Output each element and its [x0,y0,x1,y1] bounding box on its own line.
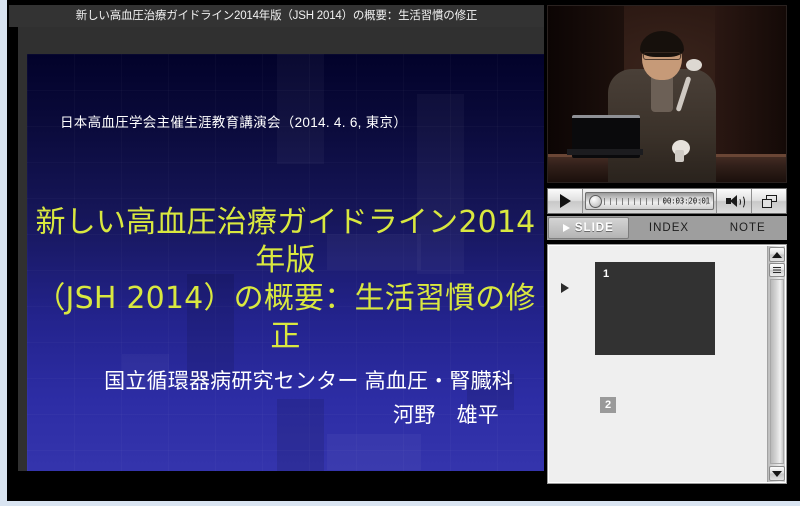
volume-button[interactable] [716,189,751,213]
sidebar-bottom-bar [544,484,792,500]
thumbnail-scrollbar[interactable] [767,246,785,482]
speaker-icon [726,195,742,207]
speaker-glasses [643,52,681,60]
scroll-grip-icon [773,267,781,274]
tab-slide-label: SLIDE [575,222,614,234]
slide-canvas[interactable]: 日本高血圧学会主催生涯教育講演会（2014. 4. 6, 東京） 新しい高血圧治… [27,54,544,478]
player-window: 新しい高血圧治療ガイドライン2014年版（JSH 2014）の概要：生活習慣の修… [0,0,800,506]
laptop-base [567,149,643,155]
chevron-down-icon [772,471,782,477]
tab-slide[interactable]: SLIDE [548,217,629,239]
slide-author: 河野 雄平 [27,400,499,432]
slide-affiliation: 国立循環器病研究センター 高血圧・腎臓科 [27,366,513,398]
scrollbar-thumb[interactable] [769,263,785,277]
slide-title-line-2: （JSH 2014）の概要：生活習慣の修正 [27,280,544,356]
slide-thumbnail-panel: 1 2 [547,244,787,484]
chevron-up-icon [772,252,782,258]
seek-slider[interactable]: 00:03:20:01 [585,192,714,210]
play-icon [560,194,571,208]
slide-viewer: 新しい高血圧治療ガイドライン2014年版（JSH 2014）の概要：生活習慣の修… [9,0,544,500]
desk-microphone-body [675,150,684,162]
slide-bg-block [327,434,421,470]
thumbnail-list[interactable]: 1 2 [548,245,766,483]
viewer-bottom-bar [9,471,544,500]
microphone-head [686,59,702,71]
playback-controls: 00:03:20:01 [547,188,787,214]
current-slide-marker-icon [561,283,569,293]
video-preview[interactable] [547,5,787,183]
scroll-up-button[interactable] [769,247,785,262]
scrollbar-track[interactable] [770,279,784,464]
window-resize-icon [762,195,777,208]
fullscreen-button[interactable] [751,189,786,213]
play-triangle-icon [563,224,570,232]
player-sidebar: 00:03:20:01 SLIDE INDEX [544,0,792,500]
slide-subtitle: 日本高血圧学会主催生涯教育講演会（2014. 4. 6, 東京） [60,111,500,131]
slide-title-line-1: 新しい高血圧治療ガイドライン2014年版 [36,205,536,278]
tab-note-label: NOTE [730,222,766,234]
tab-index[interactable]: INDEX [630,216,709,240]
slide-stage: 日本高血圧学会主催生涯教育講演会（2014. 4. 6, 東京） 新しい高血圧治… [18,27,544,471]
thumbnail-number: 2 [600,397,616,413]
seek-handle[interactable] [589,195,602,208]
thumbnail-number: 1 [603,268,609,280]
slide-bg-block [277,54,324,164]
presentation-title-bar: 新しい高血圧治療ガイドライン2014年版（JSH 2014）の概要：生活習慣の修… [9,5,544,27]
scroll-down-button[interactable] [769,466,785,481]
play-button[interactable] [548,189,583,213]
tab-index-label: INDEX [649,222,689,234]
timecode-label: 00:03:20:01 [662,197,711,206]
sidebar-tabs: SLIDE INDEX NOTE [547,216,787,240]
thumbnail-image[interactable]: 1 [595,262,715,355]
slide-main-title: 新しい高血圧治療ガイドライン2014年版 （JSH 2014）の概要：生活習慣の… [27,204,544,356]
tab-note[interactable]: NOTE [708,216,787,240]
